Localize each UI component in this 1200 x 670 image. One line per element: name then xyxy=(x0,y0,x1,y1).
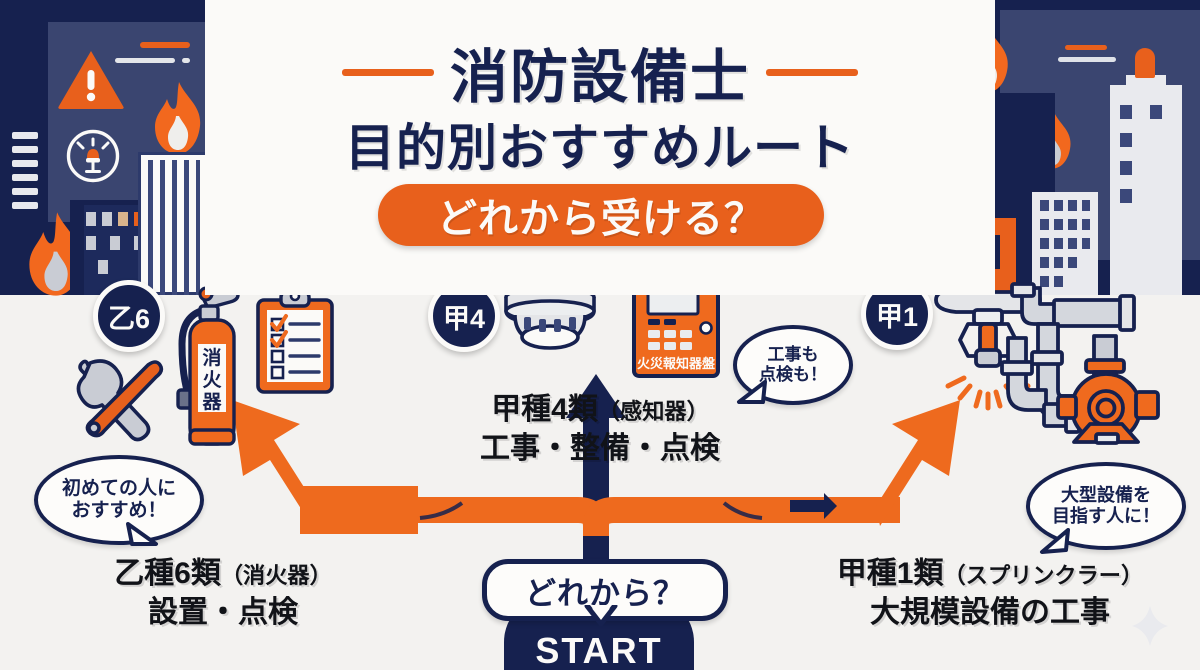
route-left-paren: （消火器） xyxy=(221,563,332,588)
deco-bar-stack-left xyxy=(12,132,38,216)
bubble-left: 初めての人に おすすめ！ xyxy=(34,455,204,545)
route-left-title: 乙種6類 xyxy=(114,557,221,590)
smoke-detector-icon xyxy=(495,285,605,357)
bubble-right-line2: 目指す人に！ xyxy=(1052,506,1160,527)
bubble-left-line2: おすすめ！ xyxy=(62,500,176,522)
alarm-light-icon xyxy=(65,128,121,184)
page-title: 消防設備士 xyxy=(450,30,750,114)
building-right-orange-slot xyxy=(995,235,1000,269)
bubble-left-tail xyxy=(126,522,162,554)
deco-line-white-2 xyxy=(182,58,190,63)
warning-triangle-icon xyxy=(57,48,125,110)
deco-line-white-3 xyxy=(1058,57,1116,62)
building-tower-stripes xyxy=(146,160,202,295)
building-left-window-grid xyxy=(84,212,146,272)
bubble-center-line2: 点検も！ xyxy=(759,365,827,385)
route-left-subtitle: 設置・点検 xyxy=(58,595,388,630)
route-label-right: 甲種1類（スプリンクラー） 大規模設備の工事 xyxy=(800,556,1180,631)
route-center-subtitle: 工事・整備・点検 xyxy=(440,431,760,466)
extinguisher-label-char3: 器 xyxy=(201,391,222,413)
route-right-title: 甲種1類 xyxy=(837,557,944,590)
deco-line-orange-1 xyxy=(140,42,190,48)
bubble-left-line1: 初めての人に xyxy=(62,478,176,500)
clipboard-checklist-icon xyxy=(253,288,337,396)
badge-otsu6[interactable]: 乙6 xyxy=(93,280,165,352)
page-subtitle: 目的別おすすめルート xyxy=(205,108,995,180)
building-right-antenna xyxy=(1135,48,1155,78)
fire-pump-icon xyxy=(1052,330,1170,458)
title-dash-right xyxy=(766,69,858,76)
badge-kou1-label: 甲1 xyxy=(876,295,918,334)
route-label-center: 甲種4類（感知器） 工事・整備・点検 xyxy=(440,392,760,467)
deco-line-orange-2 xyxy=(1065,45,1107,50)
header-pill-label: どれから受ける？ xyxy=(437,186,765,244)
route-right-arrowhead xyxy=(790,490,838,522)
badge-kou4-label: 甲4 xyxy=(443,297,485,336)
title-dash-left xyxy=(342,69,434,76)
route-right-subtitle: 大規模設備の工事 xyxy=(800,595,1180,630)
flame-icon-1 xyxy=(150,80,206,156)
fire-extinguisher-icon: 消 火 器 xyxy=(168,282,250,454)
bubble-center-line1: 工事も xyxy=(759,345,827,365)
extinguisher-label-char1: 消 xyxy=(202,346,221,369)
infographic-canvas: 消 火 器 xyxy=(0,0,1200,670)
extinguisher-label-char2: 火 xyxy=(202,369,222,391)
fire-alarm-panel-label: 火災報知器盤 xyxy=(637,356,716,371)
route-center-paren: （感知器） xyxy=(598,399,709,424)
header-pill[interactable]: どれから受ける？ xyxy=(378,184,824,246)
bubble-right-line1: 大型設備を xyxy=(1052,485,1160,506)
route-center-title: 甲種4類 xyxy=(491,393,598,426)
title-row: 消防設備士 xyxy=(205,36,995,108)
route-label-left: 乙種6類（消火器） 設置・点検 xyxy=(58,556,388,631)
wrench-screwdriver-icon xyxy=(70,355,168,447)
route-left-arrowhead xyxy=(286,485,326,521)
start-bubble-tail xyxy=(584,605,618,627)
deco-dot-orange xyxy=(1075,45,1084,50)
route-right-paren: （スプリンクラー） xyxy=(944,563,1144,588)
building-right-gridwhite-windows xyxy=(1040,200,1092,290)
building-right-white-windows xyxy=(1120,105,1172,225)
start-badge-label: START xyxy=(535,630,662,670)
badge-otsu6-label: 乙6 xyxy=(108,297,150,336)
